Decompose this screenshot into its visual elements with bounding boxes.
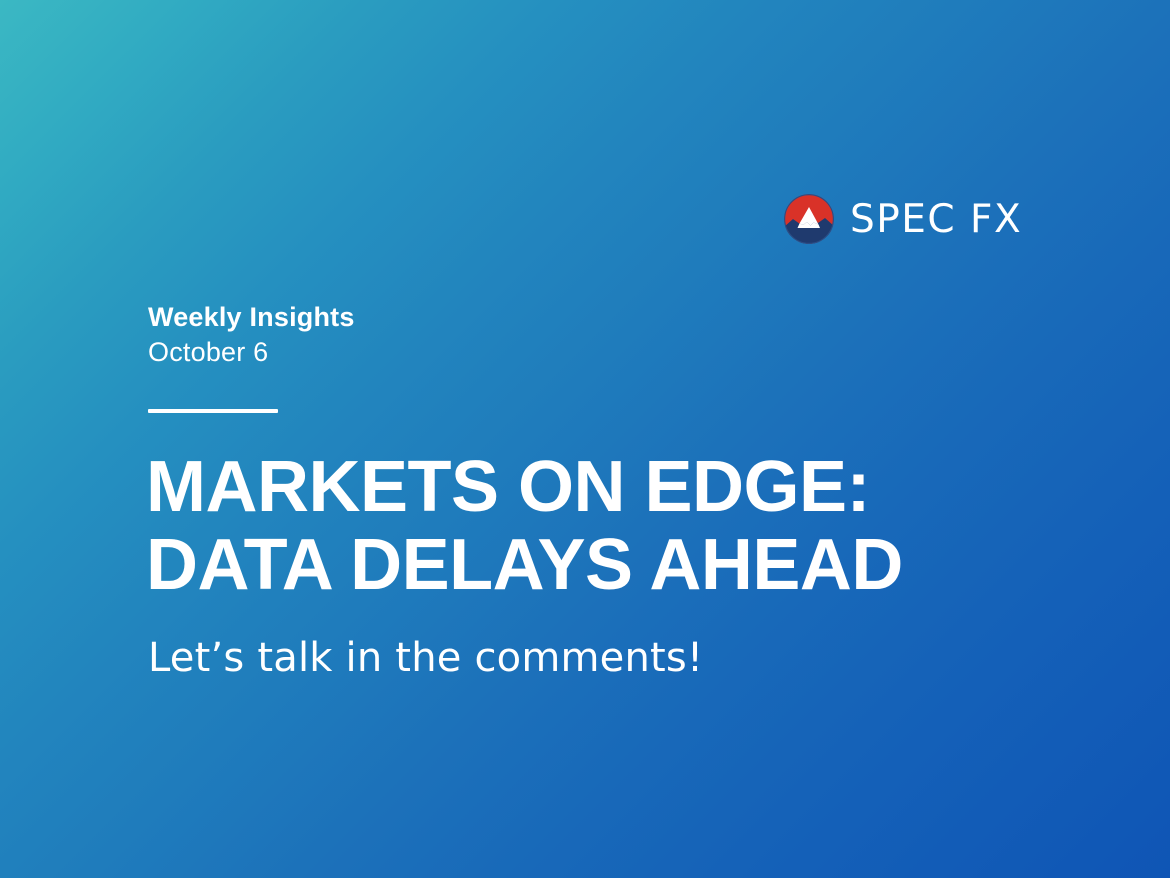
eyebrow-title: Weekly Insights [148, 300, 848, 334]
call-to-action-text: Let’s talk in the comments! [148, 633, 703, 683]
eyebrow-block: Weekly Insights October 6 [148, 300, 848, 370]
brand-lockup: SPEC FX [784, 194, 1022, 244]
headline-line-2: DATA DELAYS AHEAD [146, 526, 1046, 604]
mountain-circle-icon [784, 194, 834, 244]
headline-line-1: MARKETS ON EDGE: [146, 448, 1046, 526]
social-card: SPEC FX Weekly Insights October 6 MARKET… [0, 0, 1170, 878]
brand-name: SPEC FX [850, 200, 1022, 239]
page-title: MARKETS ON EDGE: DATA DELAYS AHEAD [146, 448, 1046, 604]
eyebrow-date: October 6 [148, 334, 848, 370]
divider-rule [148, 409, 278, 413]
